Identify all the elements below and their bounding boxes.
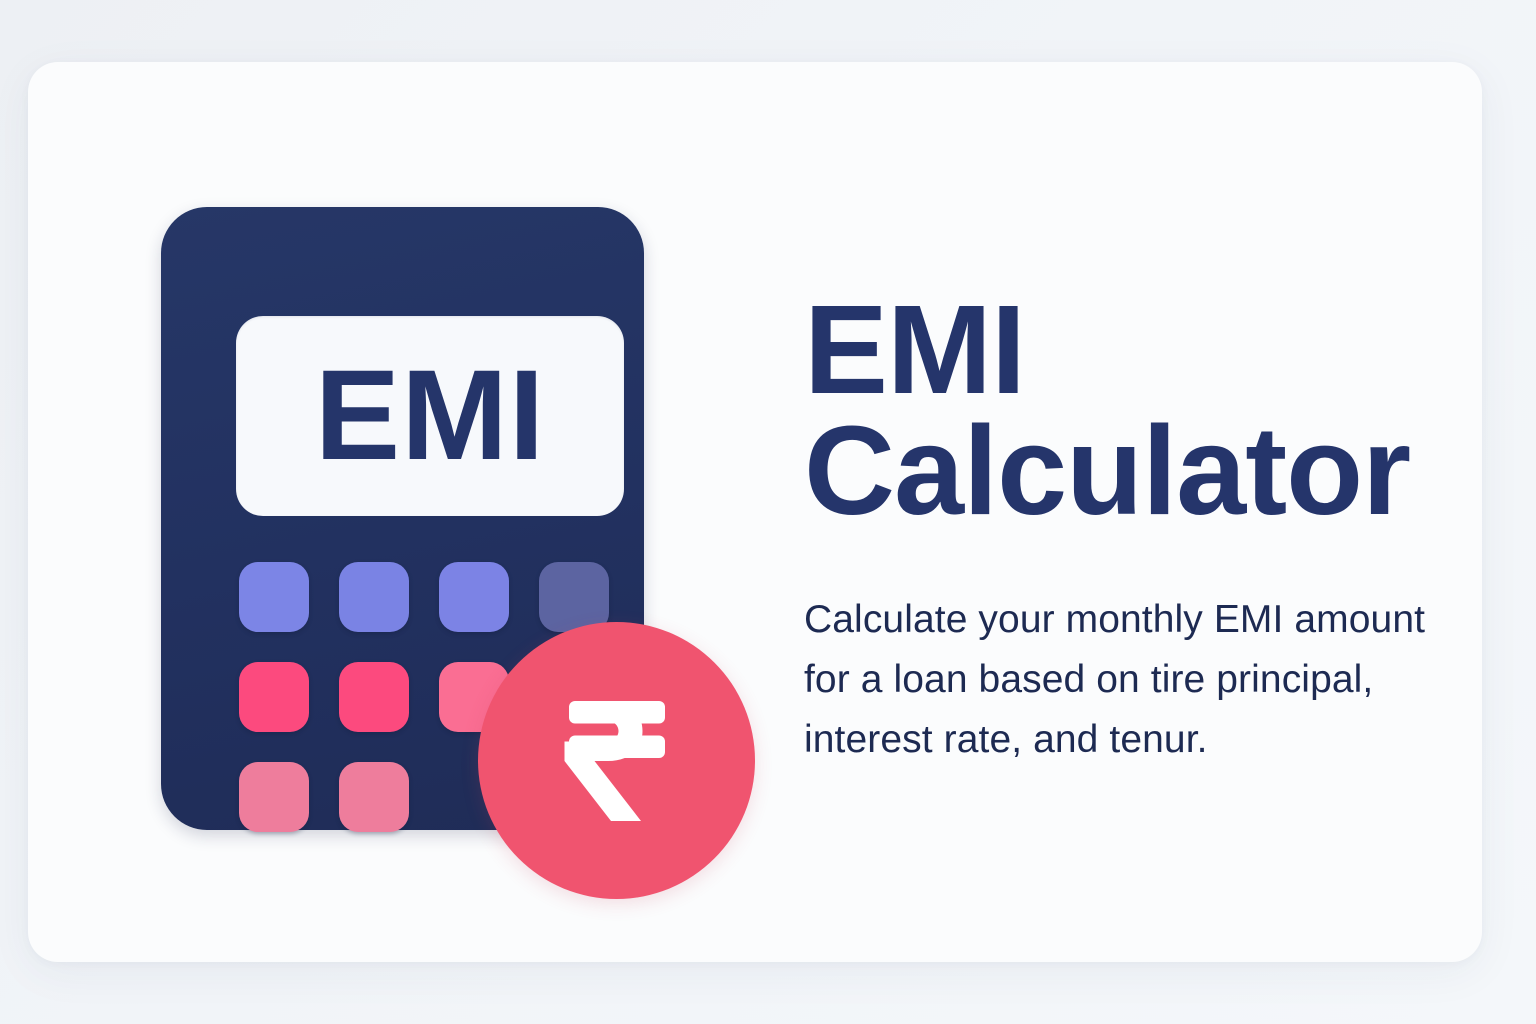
page-title-line1: EMI xyxy=(804,279,1025,420)
keypad-key xyxy=(439,562,509,632)
keypad-key xyxy=(539,562,609,632)
page-title: EMI Calculator xyxy=(804,290,1484,532)
calculator-illustration: EMI xyxy=(133,145,753,905)
calculator-display-label: EMI xyxy=(315,352,546,480)
keypad-key xyxy=(239,562,309,632)
page-description: Calculate your monthly EMI amount for a … xyxy=(804,532,1464,770)
keypad-key xyxy=(239,662,309,732)
keypad-key xyxy=(239,762,309,832)
keypad-key xyxy=(339,562,409,632)
emi-calculator-card: EMI xyxy=(28,62,1482,962)
keypad-key xyxy=(339,762,409,832)
rupee-icon xyxy=(542,686,692,836)
hero-text-column: EMI Calculator Calculate your monthly EM… xyxy=(804,290,1484,770)
calculator-display: EMI xyxy=(236,316,624,516)
rupee-badge xyxy=(478,622,755,899)
keypad-key xyxy=(339,662,409,732)
page-title-line2: Calculator xyxy=(804,411,1484,532)
